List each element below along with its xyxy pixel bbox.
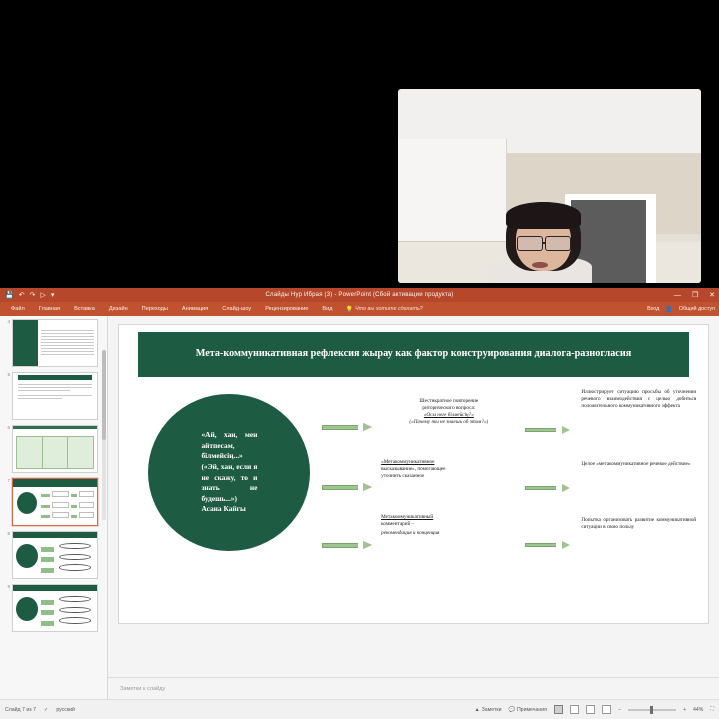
webcam-person-hair-top [506, 202, 582, 229]
tell-me-placeholder: Что вы хотите сделать? [355, 306, 423, 312]
thumb-arrow [41, 610, 54, 615]
sign-in-button[interactable]: Вход [647, 306, 659, 312]
thumb-table [16, 436, 93, 469]
minimize-icon[interactable]: — [674, 292, 681, 299]
middle-text-2[interactable]: «Метакоммуникативное высказывание», помо… [381, 459, 516, 480]
thumbnail-row[interactable]: 9 [3, 584, 104, 632]
share-button[interactable]: Общий доступ [679, 306, 715, 312]
thumbnail-number: 5 [3, 372, 10, 378]
thumb-circle [17, 492, 37, 514]
arrow-left-1[interactable] [322, 423, 372, 432]
thumb-arrow [71, 515, 77, 518]
tab-file[interactable]: Файл [4, 302, 32, 316]
tab-slideshow[interactable]: Слайд-шоу [215, 302, 258, 316]
restore-icon[interactable]: ❐ [692, 292, 698, 299]
thumb-title-band [13, 479, 97, 487]
thumb-box [79, 502, 95, 508]
notes-pane[interactable]: Заметки к слайду [108, 677, 719, 699]
thumb-arrow [41, 494, 50, 497]
middle-text-1[interactable]: Шестикратное повторение риторического во… [381, 398, 516, 426]
window-controls: — ❐ ✕ [674, 288, 715, 302]
webcam-cabinet [398, 139, 507, 242]
thumb-arrow [71, 494, 77, 497]
thumb-title-band [13, 426, 97, 429]
middle-text-3[interactable]: Метакоммуникативный комментарий – рекоме… [381, 514, 516, 537]
thumbnail-number: 9 [3, 584, 10, 590]
thumb-text-lines [18, 384, 92, 401]
arrow-left-3[interactable] [322, 541, 372, 550]
slide-thumbnail-4[interactable] [12, 319, 98, 367]
thumb-box [79, 512, 95, 518]
thumbnail-row[interactable]: 4 [3, 319, 104, 367]
status-right-group: ▲ Заметки 💬 Примечания − + 44% ⛶ [475, 705, 719, 714]
slide-thumbnail-8[interactable] [12, 531, 98, 579]
close-icon[interactable]: ✕ [709, 292, 715, 299]
view-normal-button[interactable] [554, 705, 563, 714]
thumb-title-block [13, 320, 38, 366]
thumb-oval [59, 617, 91, 623]
notes-placeholder: Заметки к слайду [120, 686, 165, 692]
thumb-box [79, 491, 95, 497]
slide-thumbnail-9[interactable] [12, 584, 98, 632]
thumbnail-scrollbar[interactable] [102, 350, 106, 520]
slide-thumbnail-7-selected[interactable] [12, 478, 98, 526]
thumb-box [52, 502, 69, 508]
thumbnail-number: 8 [3, 531, 10, 537]
webcam-glasses-right-lens [545, 236, 570, 251]
thumb-oval [59, 564, 91, 570]
thumbnail-row[interactable]: 5 [3, 372, 104, 420]
tab-view[interactable]: Вид [315, 302, 339, 316]
thumb-circle [16, 544, 38, 568]
thumb-circle [16, 597, 38, 621]
thumb-arrow [41, 505, 50, 508]
arrow-right-2[interactable] [525, 484, 569, 492]
spellcheck-icon[interactable]: ✓ [44, 707, 48, 713]
slide-title[interactable]: Мета-коммуникативная рефлексия жырау как… [138, 332, 689, 377]
view-sorter-button[interactable] [570, 705, 579, 714]
thumbnail-row[interactable]: 6 [3, 425, 104, 473]
arrow-left-2[interactable] [322, 483, 372, 492]
thumb-arrow [41, 600, 54, 605]
view-slideshow-button[interactable] [602, 705, 611, 714]
slide-counter[interactable]: Слайд 7 из 7 [5, 707, 36, 713]
slide-editing-stage: Мета-коммуникативная рефлексия жырау как… [108, 316, 719, 719]
status-bar: Слайд 7 из 7 ✓ русский ▲ Заметки 💬 Приме… [0, 699, 719, 719]
tab-design[interactable]: Дизайн [102, 302, 135, 316]
ribbon-tabs: Файл Главная Вставка Дизайн Переходы Ани… [0, 302, 340, 316]
slide-thumbnail-5[interactable] [12, 372, 98, 420]
comment-icon: 💬 [508, 707, 514, 713]
right-text-2[interactable]: Целое «метакоммуникативное речевое дейст… [581, 461, 696, 468]
thumbnail-number: 4 [3, 319, 10, 325]
zoom-level-label[interactable]: 44% [693, 707, 703, 713]
view-reading-button[interactable] [586, 705, 595, 714]
thumb-arrow [41, 547, 54, 552]
slide-thumbnail-6[interactable] [12, 425, 98, 473]
thumb-arrow [41, 557, 54, 562]
ribbon-tab-bar: Файл Главная Вставка Дизайн Переходы Ани… [0, 302, 719, 316]
thumb-oval [59, 554, 91, 560]
tab-home[interactable]: Главная [32, 302, 67, 316]
thumb-arrow [71, 505, 77, 508]
tab-transitions[interactable]: Переходы [135, 302, 175, 316]
thumbnail-number: 7 [3, 478, 10, 484]
thumb-title-band [13, 532, 97, 538]
zoom-slider[interactable] [628, 709, 676, 711]
tab-insert[interactable]: Вставка [67, 302, 102, 316]
tab-animations[interactable]: Анимация [175, 302, 215, 316]
right-text-3[interactable]: Попытка организовать развитие коммуникат… [581, 517, 696, 531]
thumb-arrow [41, 621, 54, 626]
current-slide[interactable]: Мета-коммуникативная рефлексия жырау как… [118, 324, 709, 624]
thumb-title-band [18, 375, 92, 380]
window-title: Слайды Нур Ибрая (3) - PowerPoint (Сбой … [0, 288, 719, 302]
title-bar: 💾 ↶ ↷ ▷ ▾ Слайды Нур Ибрая (3) - PowerPo… [0, 288, 719, 302]
powerpoint-window: 💾 ↶ ↷ ▷ ▾ Слайды Нур Ибрая (3) - PowerPo… [0, 288, 719, 719]
fit-to-window-button[interactable]: ⛶ [710, 706, 714, 713]
arrow-right-1[interactable] [525, 426, 569, 434]
webcam-person-mouth [532, 262, 548, 269]
webcam-video-tile[interactable] [398, 89, 701, 283]
thumb-title-band [13, 585, 97, 591]
thumb-oval [59, 596, 91, 602]
thumb-oval [59, 543, 91, 549]
language-indicator[interactable]: русский [56, 707, 75, 713]
slide-circle-quote[interactable]: «Ай, хан, мен айтпесам, білмейсің...» («… [148, 394, 310, 552]
tab-review[interactable]: Рецензирование [258, 302, 315, 316]
thumbnail-number: 6 [3, 425, 10, 431]
webcam-glasses-left-lens [517, 236, 542, 251]
slide-thumbnail-pane[interactable]: 4 5 [0, 316, 108, 719]
notes-icon: ▲ [475, 707, 480, 713]
thumb-text-lines [41, 330, 94, 357]
thumbnail-row[interactable]: 8 [3, 531, 104, 579]
notes-toggle-button[interactable]: ▲ Заметки [475, 707, 502, 713]
thumb-arrow [41, 515, 50, 518]
thumb-box [52, 512, 69, 518]
thumb-arrow [41, 568, 54, 573]
status-left-group: Слайд 7 из 7 ✓ русский [0, 707, 75, 713]
tell-me-search[interactable]: 💡 Что вы хотите сделать? [346, 306, 423, 313]
arrow-right-3[interactable] [525, 541, 569, 549]
right-text-1[interactable]: Иллюстрирует ситуацию просьбы об уточнен… [581, 389, 696, 410]
thumb-oval [59, 607, 91, 613]
comments-button[interactable]: 💬 Примечания [508, 707, 546, 713]
thumb-box [52, 491, 69, 497]
share-person-icon: 👤 [665, 306, 672, 313]
zoom-in-button[interactable]: + [683, 707, 686, 713]
lightbulb-icon: 💡 [346, 306, 353, 313]
ribbon-right-actions: Вход 👤 Общий доступ [647, 302, 715, 316]
circle-quote-text: «Ай, хан, мен айтпесам, білмейсің...» («… [201, 430, 257, 514]
thumbnail-row[interactable]: 7 [3, 478, 104, 526]
screen-root: 💾 ↶ ↷ ▷ ▾ Слайды Нур Ибрая (3) - PowerPo… [0, 0, 719, 719]
video-conference-stage [0, 0, 719, 288]
webcam-glasses-bridge [543, 242, 546, 244]
workspace: 4 5 [0, 316, 719, 719]
zoom-out-button[interactable]: − [618, 707, 621, 713]
